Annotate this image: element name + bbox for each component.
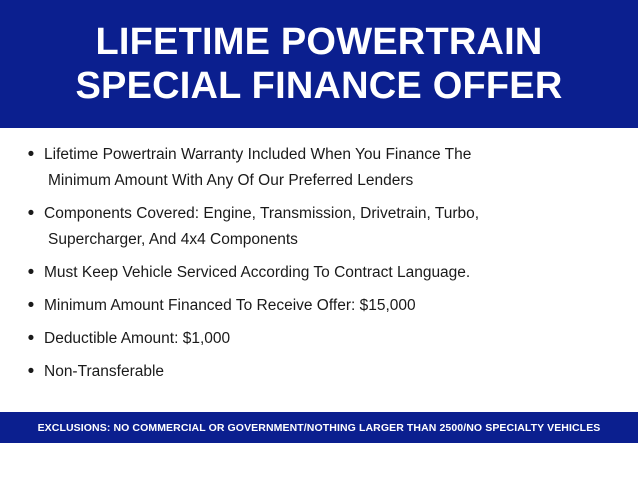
list-item: • Components Covered: Engine, Transmissi… (18, 201, 620, 253)
list-item-text: Non-Transferable (44, 359, 620, 385)
bullet-marker-icon: • (18, 293, 44, 319)
bullet-marker-icon: • (18, 359, 44, 385)
title-line-1: LIFETIME POWERTRAIN (95, 20, 542, 64)
list-item: • Deductible Amount: $1,000 (18, 326, 620, 352)
exclusions-banner: EXCLUSIONS: NO COMMERCIAL OR GOVERNMENT/… (0, 412, 638, 443)
list-item-text: Components Covered: Engine, Transmission… (44, 201, 620, 253)
bullet-marker-icon: • (18, 142, 44, 168)
title-line-2: SPECIAL FINANCE OFFER (76, 64, 563, 108)
list-item-text: Minimum Amount Financed To Receive Offer… (44, 293, 620, 319)
bottom-margin (0, 443, 638, 479)
list-item-line-2: Minimum Amount With Any Of Our Preferred… (44, 168, 620, 194)
list-item-text: Must Keep Vehicle Serviced According To … (44, 260, 620, 286)
list-item: • Minimum Amount Financed To Receive Off… (18, 293, 620, 319)
list-item-line-1: Lifetime Powertrain Warranty Included Wh… (44, 146, 471, 163)
list-item-line-1: Non-Transferable (44, 363, 164, 380)
bullet-marker-icon: • (18, 201, 44, 227)
bullet-marker-icon: • (18, 326, 44, 352)
bullet-marker-icon: • (18, 260, 44, 286)
bullet-list: • Lifetime Powertrain Warranty Included … (0, 128, 638, 426)
list-item: • Must Keep Vehicle Serviced According T… (18, 260, 620, 286)
list-item-line-1: Must Keep Vehicle Serviced According To … (44, 264, 470, 281)
list-item: • Lifetime Powertrain Warranty Included … (18, 142, 620, 194)
list-item-line-1: Deductible Amount: $1,000 (44, 330, 230, 347)
list-item: • Non-Transferable (18, 359, 620, 385)
list-item-line-1: Minimum Amount Financed To Receive Offer… (44, 297, 416, 314)
title-banner: LIFETIME POWERTRAIN SPECIAL FINANCE OFFE… (0, 0, 638, 128)
exclusions-text: EXCLUSIONS: NO COMMERCIAL OR GOVERNMENT/… (38, 422, 601, 434)
slide: LIFETIME POWERTRAIN SPECIAL FINANCE OFFE… (0, 0, 638, 479)
list-item-text: Lifetime Powertrain Warranty Included Wh… (44, 142, 620, 194)
list-item-line-2: Supercharger, And 4x4 Components (44, 227, 620, 253)
list-item-text: Deductible Amount: $1,000 (44, 326, 620, 352)
list-item-line-1: Components Covered: Engine, Transmission… (44, 205, 479, 222)
